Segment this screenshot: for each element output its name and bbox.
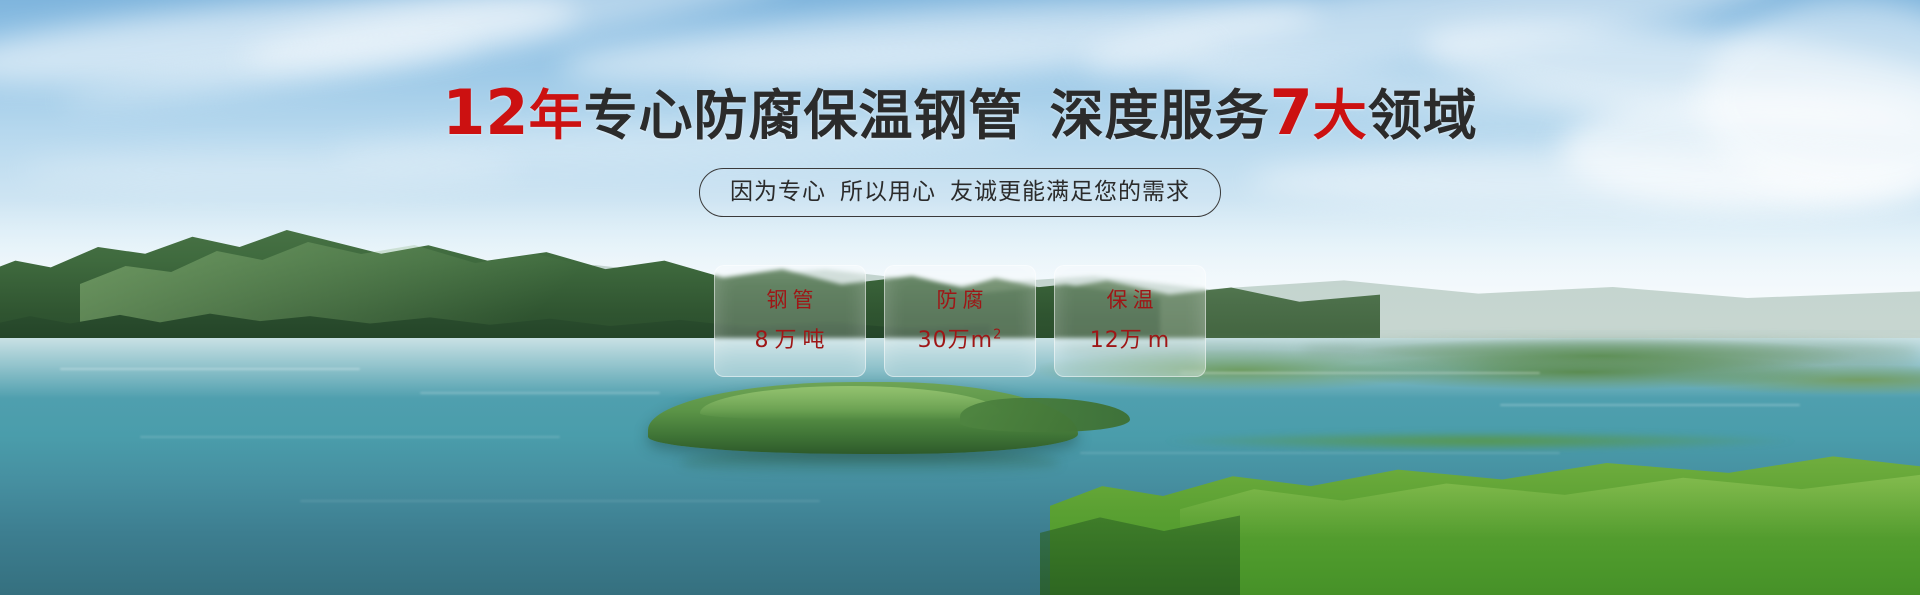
headline: 12年专心防腐保温钢管深度服务7大领域	[0, 82, 1920, 147]
subtitle-part-1: 因为专心	[730, 179, 826, 205]
stat-cards-row: 钢管 8万吨 防腐 30万m2 保温 12万m	[0, 265, 1920, 377]
headline-fields-unit: 大	[1313, 84, 1368, 147]
headline-service-text: 深度服务	[1050, 84, 1270, 147]
headline-years-number: 12	[442, 76, 528, 149]
subtitle-part-2: 所以用心	[840, 179, 936, 205]
headline-fields-number: 7	[1270, 76, 1313, 149]
headline-main-text: 专心防腐保温钢管	[584, 84, 1024, 147]
subtitle-part-3: 友诚更能满足您的需求	[950, 179, 1190, 205]
stat-card-insulation[interactable]: 保温 12万m	[1054, 265, 1206, 377]
stat-card-title: 防腐	[932, 288, 989, 312]
headline-years-unit: 年	[529, 84, 584, 147]
banner-content: 12年专心防腐保温钢管深度服务7大领域 因为专心所以用心友诚更能满足您的需求 钢…	[0, 0, 1920, 595]
hero-banner: 12年专心防腐保温钢管深度服务7大领域 因为专心所以用心友诚更能满足您的需求 钢…	[0, 0, 1920, 595]
stat-value-suffix: 吨	[803, 328, 826, 353]
stat-value-suffix: m	[1148, 328, 1170, 353]
stat-value-unit: 万	[1120, 328, 1143, 353]
stat-card-anticorrosion[interactable]: 防腐 30万m2	[884, 265, 1036, 377]
stat-card-steel-pipe[interactable]: 钢管 8万吨	[714, 265, 866, 377]
stat-value-superscript: 2	[993, 328, 1002, 343]
stat-value-unit: 万	[774, 328, 797, 353]
stat-value-suffix: m	[971, 328, 993, 353]
stat-card-title: 钢管	[762, 288, 819, 312]
stat-card-title: 保温	[1102, 288, 1159, 312]
stat-card-value: 30万m2	[918, 328, 1003, 354]
stat-value-unit: 万	[948, 328, 971, 353]
stat-card-value: 12万m	[1090, 328, 1170, 354]
stat-value-number: 30	[918, 328, 948, 353]
subtitle-pill: 因为专心所以用心友诚更能满足您的需求	[699, 168, 1221, 217]
headline-fields-text: 领域	[1368, 84, 1478, 147]
stat-card-value: 8万吨	[754, 328, 825, 354]
subtitle-container: 因为专心所以用心友诚更能满足您的需求	[0, 168, 1920, 217]
stat-value-number: 8	[754, 328, 769, 353]
stat-value-number: 12	[1090, 328, 1120, 353]
